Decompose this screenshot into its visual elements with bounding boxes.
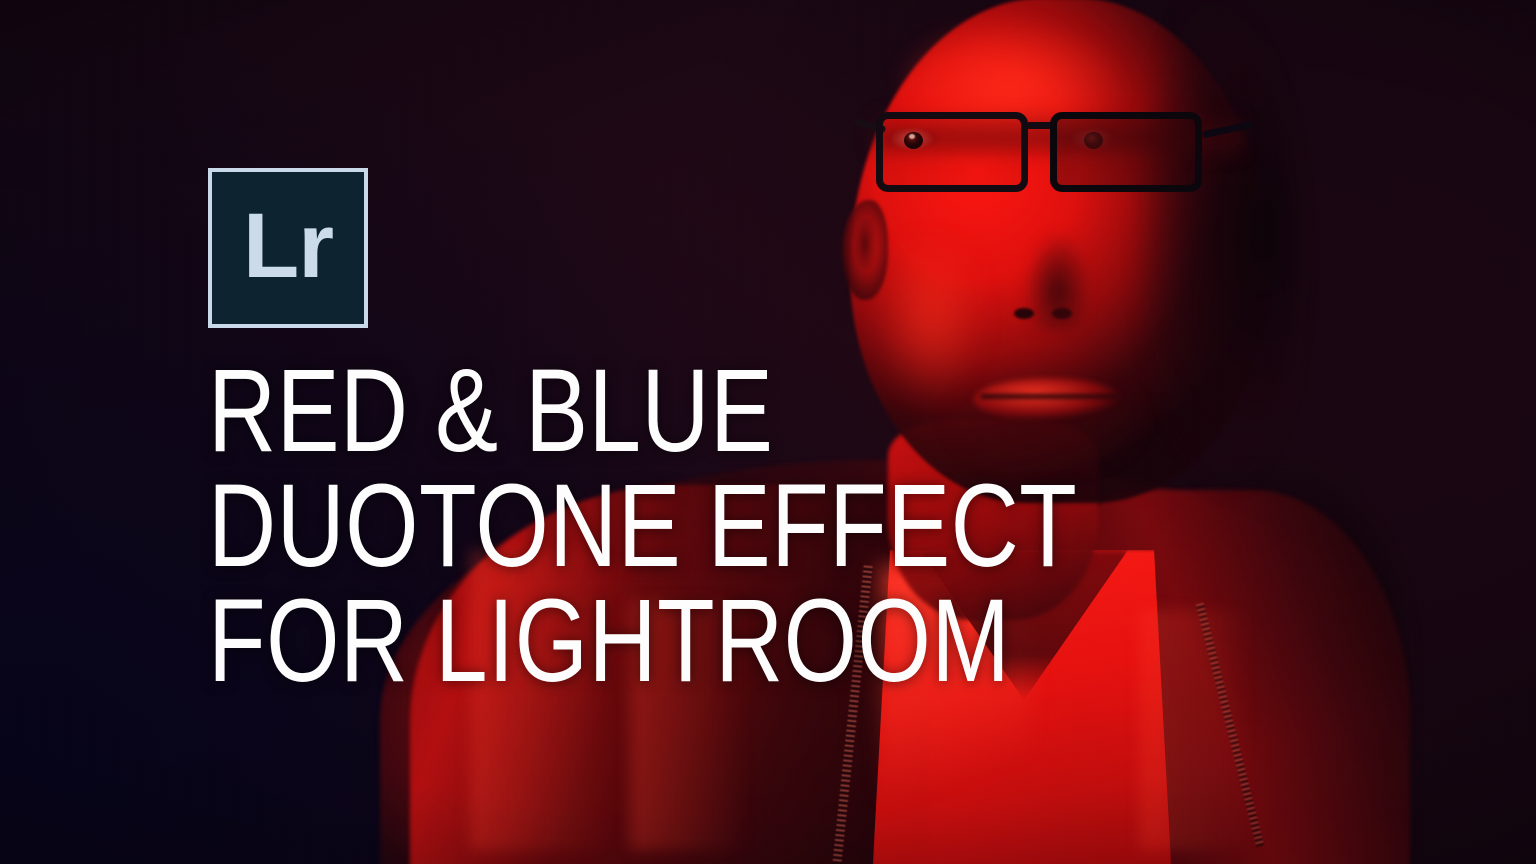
- headline-line-3: FOR LIGHTROOM: [208, 584, 1072, 699]
- banner-content: Lr RED & BLUE DUOTONE EFFECT FOR LIGHTRO…: [208, 168, 1288, 699]
- headline-line-1: RED & BLUE: [208, 354, 1072, 469]
- page-title: RED & BLUE DUOTONE EFFECT FOR LIGHTROOM: [208, 354, 1288, 699]
- thumbnail-banner: Lr RED & BLUE DUOTONE EFFECT FOR LIGHTRO…: [0, 0, 1536, 864]
- eyeglasses-temple-right: [1202, 121, 1254, 139]
- headline-line-2: DUOTONE EFFECT: [208, 469, 1072, 584]
- lightroom-logo-icon: Lr: [208, 168, 368, 328]
- lightroom-logo-inner-frame: Lr: [218, 178, 358, 318]
- lightroom-logo-mark: Lr: [243, 200, 333, 292]
